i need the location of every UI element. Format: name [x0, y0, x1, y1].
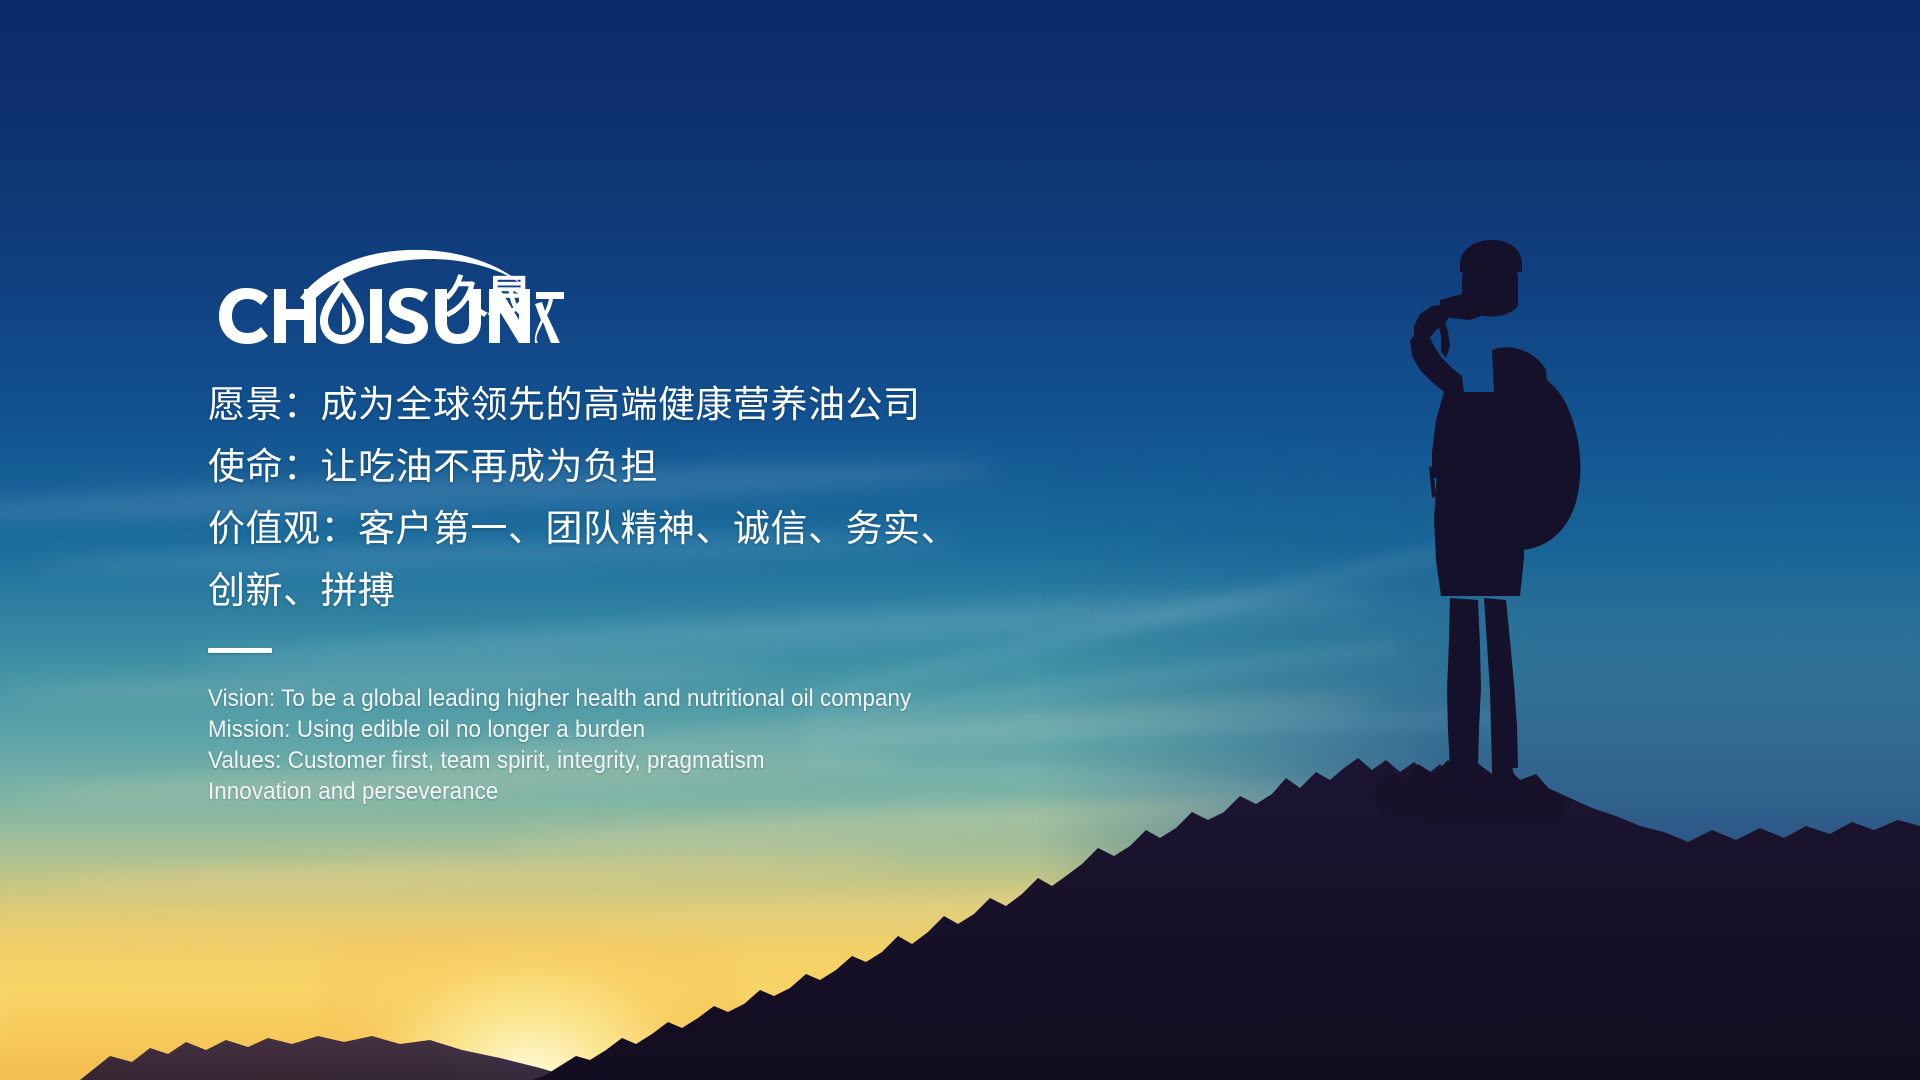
- brand-logo[interactable]: 久晟: [208, 248, 568, 344]
- content-block: 久晟 愿景：成为全球领先的高端健康营养油公司 使命：让吃油不再成为负担 价值观：…: [208, 248, 1208, 807]
- logo-cn-wordmark: 久晟: [444, 276, 530, 320]
- logo-cn-char-jiu: [535, 292, 564, 343]
- statement-en-vision: Vision: To be a global leading higher he…: [208, 683, 1138, 714]
- statement-cn-values-1: 价值观：客户第一、团队精神、诚信、务实、: [208, 498, 1208, 560]
- statement-cn-mission: 使命：让吃油不再成为负担: [208, 436, 1208, 498]
- statements-english: Vision: To be a global leading higher he…: [208, 683, 1208, 807]
- slide-canvas: 久晟 愿景：成为全球领先的高端健康营养油公司 使命：让吃油不再成为负担 价值观：…: [0, 0, 1920, 1080]
- statement-en-values-1: Values: Customer first, team spirit, int…: [208, 745, 1138, 776]
- section-divider: [208, 648, 272, 653]
- statement-cn-vision: 愿景：成为全球领先的高端健康营养油公司: [208, 374, 1208, 436]
- statement-en-mission: Mission: Using edible oil no longer a bu…: [208, 714, 1138, 745]
- statements-chinese: 愿景：成为全球领先的高端健康营养油公司 使命：让吃油不再成为负担 价值观：客户第…: [208, 374, 1208, 622]
- statement-cn-values-2: 创新、拼搏: [208, 560, 1208, 622]
- statement-en-values-2: Innovation and perseverance: [208, 776, 1138, 807]
